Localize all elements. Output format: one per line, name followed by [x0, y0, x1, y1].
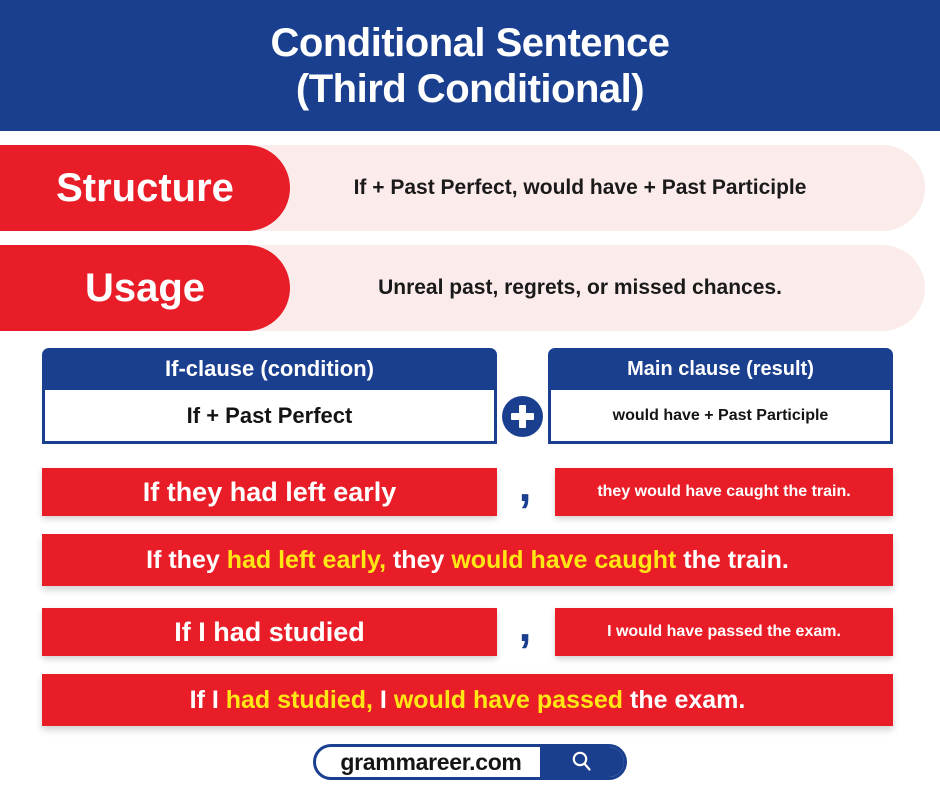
if-clause-card: If-clause (condition) If + Past Perfect: [42, 348, 497, 444]
example-1-full-sentence-bar: If they had left early, they would have …: [42, 534, 893, 586]
if-clause-body: If + Past Perfect: [42, 390, 497, 444]
example-2-if-part: If I had studied: [42, 608, 497, 656]
plain-phrase: the train.: [676, 546, 789, 574]
plain-phrase: the exam.: [623, 686, 745, 714]
page-title-line-2: (Third Conditional): [296, 66, 644, 112]
example-2-full-sentence-bar: If I had studied, I would have passed th…: [42, 674, 893, 726]
site-logo[interactable]: grammareer.com: [313, 744, 627, 780]
plus-icon: [502, 396, 543, 437]
example-1-full-sentence: If they had left early, they would have …: [146, 546, 789, 575]
usage-label-pill: Usage: [0, 245, 290, 331]
plain-phrase: they: [386, 546, 451, 574]
page-title-line-1: Conditional Sentence: [271, 20, 670, 66]
formula-area: If-clause (condition) If + Past Perfect …: [0, 348, 940, 446]
plain-phrase: If they: [146, 546, 227, 574]
example-1-if-part: If they had left early: [42, 468, 497, 516]
site-logo-brand: grammareer.com: [316, 749, 540, 776]
infographic-page: Conditional Sentence (Third Conditional)…: [0, 0, 940, 788]
example-2-result-part: I would have passed the exam.: [555, 608, 893, 656]
plus-icon-vertical: [519, 405, 526, 428]
highlighted-phrase: would have passed: [394, 686, 623, 714]
main-clause-heading: Main clause (result): [548, 348, 893, 390]
usage-label: Usage: [85, 266, 205, 311]
example-1-comma-separator: ,: [505, 468, 545, 516]
highlighted-phrase: had studied: [226, 686, 366, 714]
if-clause-heading: If-clause (condition): [42, 348, 497, 390]
plain-phrase: If I: [190, 686, 226, 714]
highlighted-phrase: had left early: [227, 546, 379, 574]
highlighted-phrase: ,: [366, 686, 373, 714]
plain-phrase: I: [373, 686, 394, 714]
main-clause-body: would have + Past Participle: [548, 390, 893, 444]
example-2-comma-separator: ,: [505, 608, 545, 656]
highlighted-phrase: ,: [379, 546, 386, 574]
page-header: Conditional Sentence (Third Conditional): [0, 0, 940, 131]
example-1-result-part: they would have caught the train.: [555, 468, 893, 516]
magnifier-icon: [540, 747, 624, 777]
highlighted-phrase: would have caught: [451, 546, 676, 574]
usage-description: Unreal past, regrets, or missed chances.: [300, 245, 860, 331]
example-2-full-sentence: If I had studied, I would have passed th…: [190, 686, 746, 715]
structure-label: Structure: [56, 166, 234, 211]
main-clause-card: Main clause (result) would have + Past P…: [548, 348, 893, 444]
structure-label-pill: Structure: [0, 145, 290, 231]
structure-description: If + Past Perfect, would have + Past Par…: [300, 145, 860, 231]
